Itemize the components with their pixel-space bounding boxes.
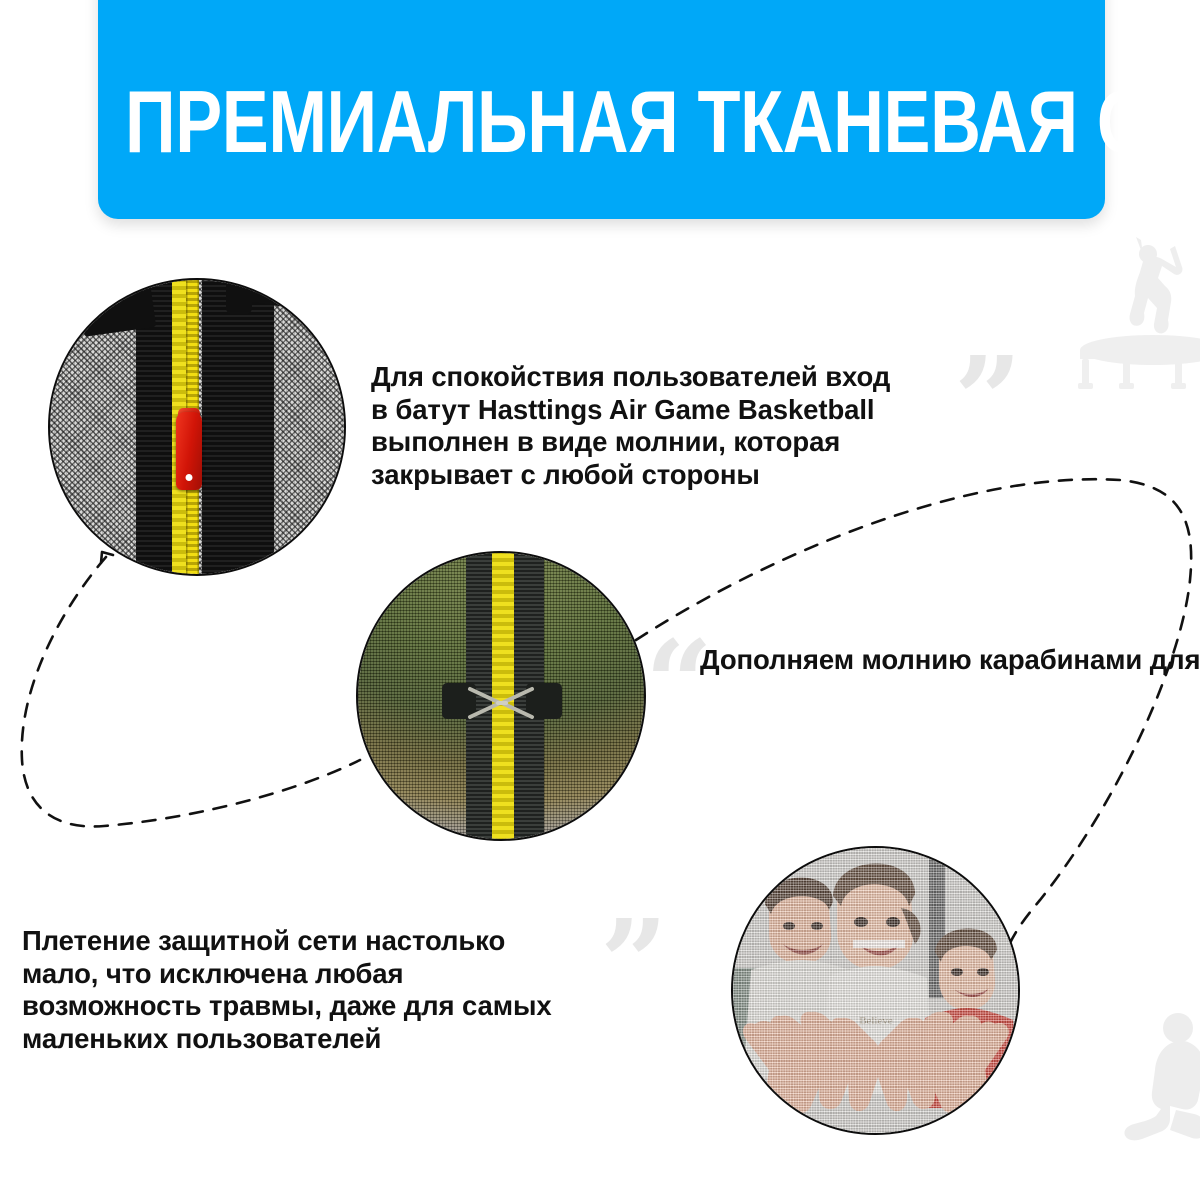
- photo-zipper-inner: [50, 280, 344, 574]
- connector-path-one: [22, 557, 360, 826]
- callout-zipper-entry: Для спокойствия пользователей вход в бат…: [371, 361, 991, 491]
- photo-carabiner-inner: [358, 553, 644, 839]
- header-banner: ПРЕМИАЛЬНАЯ ТКАНЕВАЯ СЕТКА: [98, 0, 1105, 219]
- page-title: ПРЕМИАЛЬНАЯ ТКАНЕВАЯ СЕТКА: [125, 82, 1200, 163]
- callout-fine-weave-text: Плетение защитной сети настолько мало, ч…: [22, 925, 642, 1055]
- svg-text:Believe: Believe: [859, 1015, 893, 1027]
- callout-carabiner: Дополняем молнию карабинами для дополнит…: [700, 644, 1200, 677]
- photo-carabiner: [356, 551, 646, 841]
- crouching-jumper-icon: [1116, 1006, 1200, 1156]
- carabiner-clip-icon: [440, 675, 566, 729]
- callout-zipper-entry-text: Для спокойствия пользователей вход в бат…: [371, 361, 991, 491]
- quote-mark-icon-three: ”: [600, 921, 668, 1006]
- photo-zipper: [48, 278, 346, 576]
- quote-mark-icon-two: “: [645, 642, 713, 727]
- zipper-pull-tab: [176, 412, 202, 490]
- quote-mark-icon-one: ”: [954, 358, 1022, 443]
- callout-fine-weave: Плетение защитной сети настолько мало, ч…: [22, 925, 642, 1055]
- crouching-person-watermark: [1116, 1006, 1200, 1156]
- black-placket-right: [202, 280, 274, 574]
- children-illustration: Believe: [733, 848, 1018, 1133]
- photo-children: Believe: [731, 846, 1020, 1135]
- webbing-strap-left: [76, 280, 156, 337]
- strap-buckle: [226, 280, 252, 314]
- callout-carabiner-text: Дополняем молнию карабинами для дополнит…: [700, 644, 1200, 677]
- children-photo-texture: Believe: [733, 848, 1018, 1133]
- photo-children-inner: Believe: [733, 848, 1018, 1133]
- jumping-person-trampoline-watermark: [1078, 228, 1200, 408]
- infographic-canvas: ПРЕМИАЛЬНАЯ ТКАНЕВАЯ СЕТКА: [0, 0, 1200, 1200]
- trampoline-jumper-icon: [1078, 228, 1200, 408]
